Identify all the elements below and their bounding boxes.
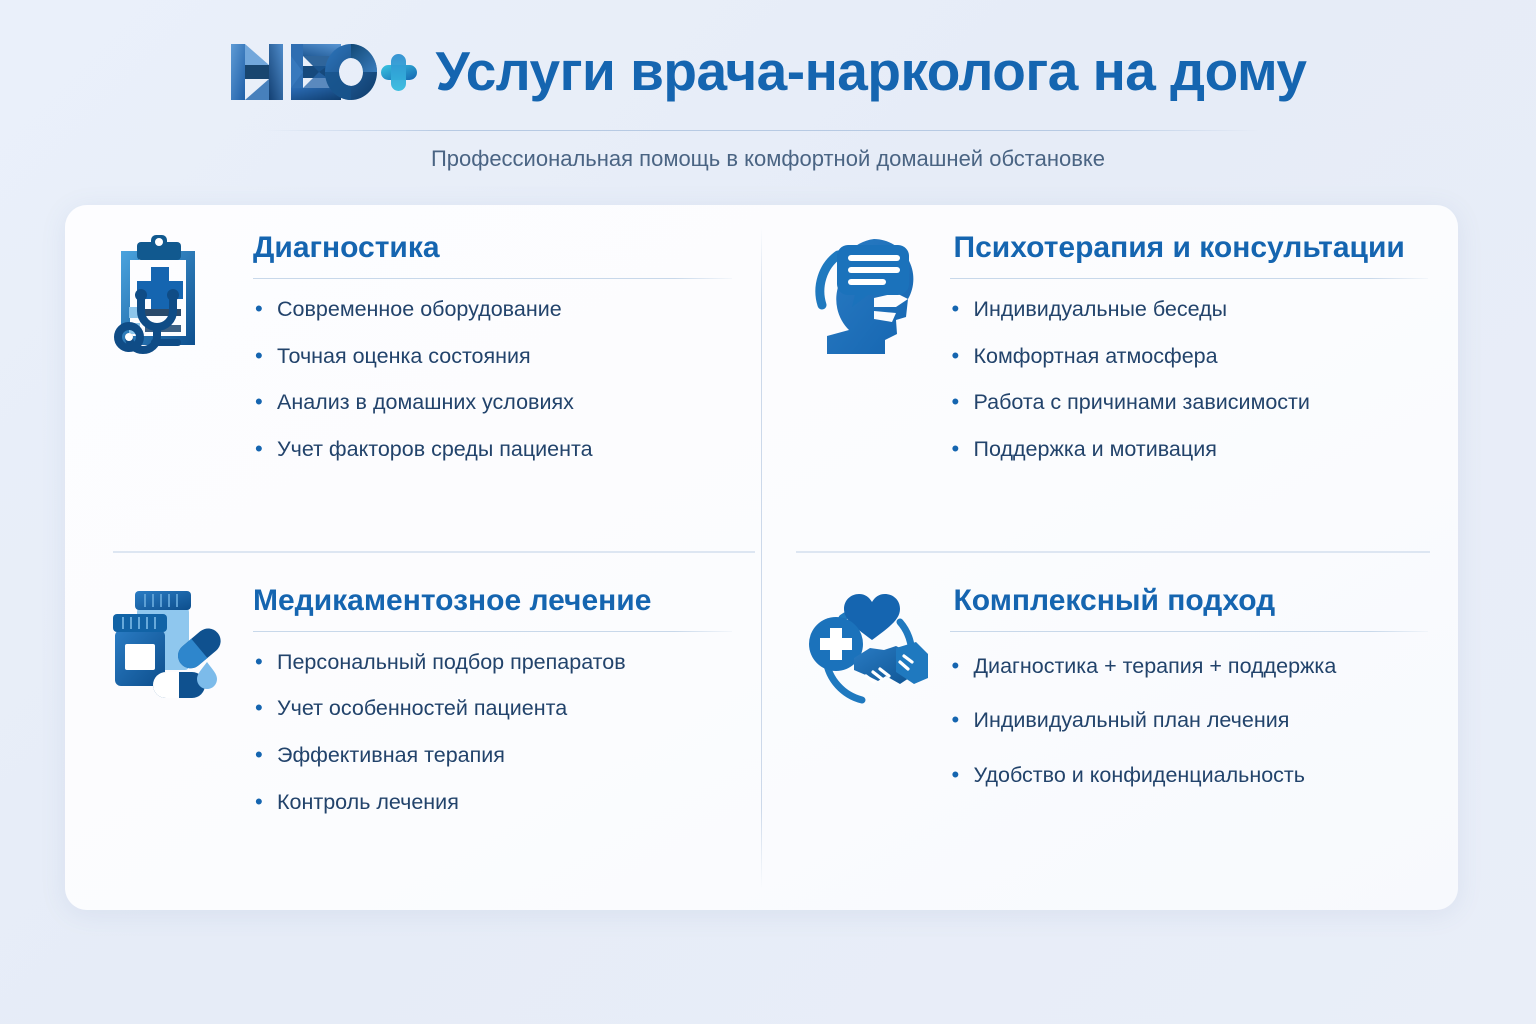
title-row: Услуги врача-нарколога на дому <box>0 38 1536 104</box>
list-item: Эффективная терапия <box>253 743 732 768</box>
list-item: Индивидуальные беседы <box>950 297 1429 322</box>
list-item: Анализ в домашних условиях <box>253 390 732 415</box>
page-header: Услуги врача-нарколога на дому Профессио… <box>0 0 1536 200</box>
benefit-list: Диагностика + терапия + поддержка Индиви… <box>950 632 1429 788</box>
benefit-list: Современное оборудование Точная оценка с… <box>253 279 732 462</box>
card-body: Комплексный подход Диагностика + терапия… <box>936 584 1429 901</box>
medicine-bottles-pills-icon <box>107 584 239 901</box>
list-item: Удобство и конфиденциальность <box>950 763 1429 788</box>
service-card-complex-approach[interactable]: Комплексный подход Диагностика + терапия… <box>762 558 1459 911</box>
benefit-list: Индивидуальные беседы Комфортная атмосфе… <box>950 279 1429 462</box>
neo-plus-logo-icon <box>229 38 419 104</box>
list-item: Индивидуальный план лечения <box>950 708 1429 733</box>
list-item: Персональный подбор препаратов <box>253 650 732 675</box>
card-body: Диагностика Современное оборудование Точ… <box>239 231 732 548</box>
card-title: Медикаментозное лечение <box>253 584 732 617</box>
page-title: Услуги врача-нарколога на дому <box>435 44 1306 99</box>
list-item: Работа с причинами зависимости <box>950 390 1429 415</box>
list-item: Учет факторов среды пациента <box>253 437 732 462</box>
horizontal-divider-left <box>113 551 755 553</box>
list-item: Комфортная атмосфера <box>950 344 1429 369</box>
benefit-list: Персональный подбор препаратов Учет особ… <box>253 632 732 815</box>
list-item: Точная оценка состояния <box>253 344 732 369</box>
services-panel: Диагностика Современное оборудование Точ… <box>65 205 1458 910</box>
clipboard-stethoscope-icon <box>107 231 239 548</box>
list-item: Контроль лечения <box>253 790 732 815</box>
heart-handshake-cross-icon <box>804 584 936 901</box>
card-body: Психотерапия и консультации Индивидуальн… <box>936 231 1429 548</box>
list-item: Современное оборудование <box>253 297 732 322</box>
card-title: Диагностика <box>253 231 732 264</box>
head-speech-bubble-icon <box>804 231 936 548</box>
list-item: Учет особенностей пациента <box>253 696 732 721</box>
service-card-diagnostics[interactable]: Диагностика Современное оборудование Точ… <box>65 205 762 558</box>
vertical-divider <box>761 227 762 888</box>
brand-logo <box>229 38 419 104</box>
horizontal-divider-right <box>796 551 1430 553</box>
card-title: Психотерапия и консультации <box>950 231 1429 264</box>
service-card-psychotherapy[interactable]: Психотерапия и консультации Индивидуальн… <box>762 205 1459 558</box>
page-subtitle: Профессиональная помощь в комфортной дом… <box>0 146 1536 172</box>
card-body: Медикаментозное лечение Персональный под… <box>239 584 732 901</box>
card-title: Комплексный подход <box>950 584 1429 617</box>
list-item: Диагностика + терапия + поддержка <box>950 654 1429 679</box>
service-card-medication[interactable]: Медикаментозное лечение Персональный под… <box>65 558 762 911</box>
list-item: Поддержка и мотивация <box>950 437 1429 462</box>
header-divider <box>262 130 1262 131</box>
